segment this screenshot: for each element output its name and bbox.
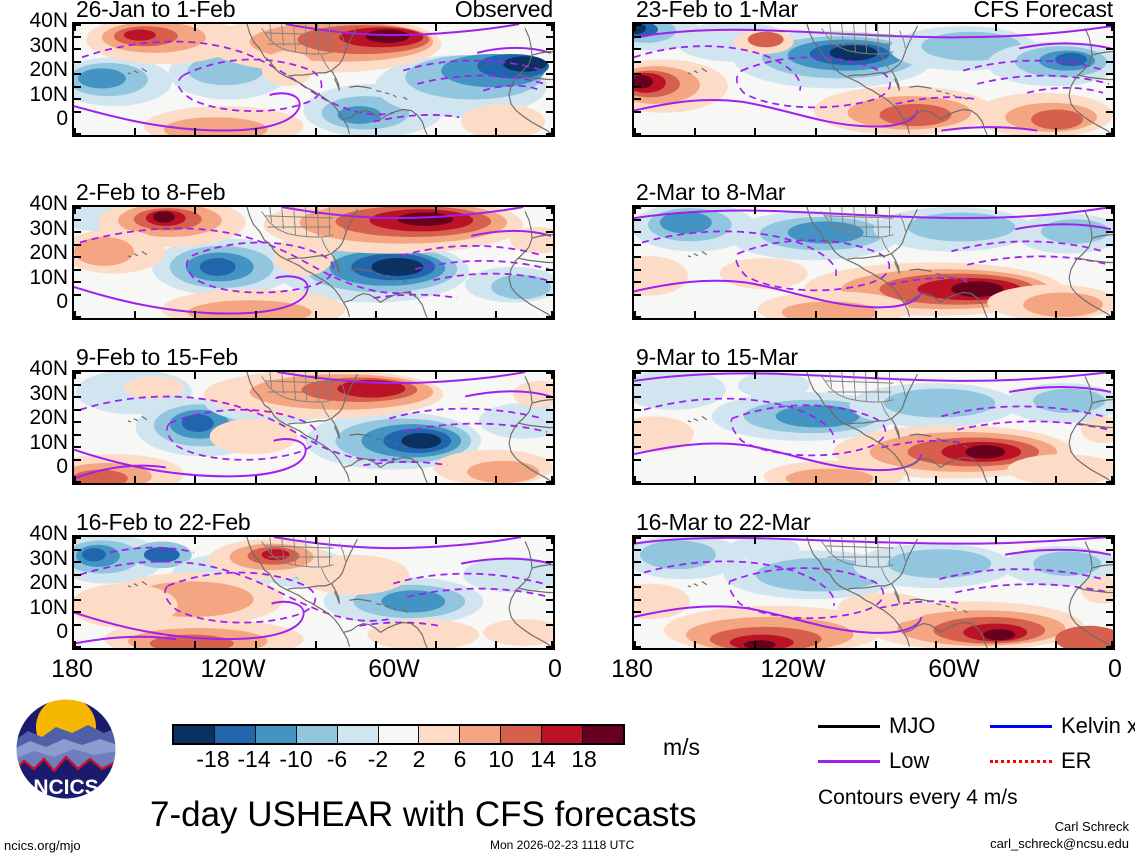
map-area-r1c2 <box>632 22 1115 137</box>
legend-label: Kelvin x2 <box>1061 713 1135 739</box>
y-tick-label: 40N <box>6 358 68 383</box>
map-panel-r2c2: 2-Mar to 8-Mar <box>632 205 1115 320</box>
x-tick-label: 180 <box>611 655 653 684</box>
colorbar-swatch <box>297 726 338 743</box>
map-area-r4c2 <box>632 535 1115 650</box>
map-panel-r4c1: 16-Feb to 22-Feb 40N 30N 20N 10N 0 <box>72 535 555 650</box>
map-panel-r1c2: 23-Feb to 1-Mar CFS Forecast <box>632 22 1115 137</box>
ushear-field-r1c2 <box>634 24 1113 135</box>
map-area-r3c1 <box>72 370 555 485</box>
colorbar-swatch <box>338 726 379 743</box>
colorbar-swatch <box>583 726 623 743</box>
colorbar-swatch <box>379 726 420 743</box>
map-panel-r3c1: 9-Feb to 15-Feb 40N 30N 20N 10N 0 <box>72 370 555 485</box>
y-tick-label: 0 <box>6 108 68 133</box>
colorbar-swatch <box>174 726 215 743</box>
colorbar-swatch <box>256 726 297 743</box>
y-axis-labels-r3: 40N 30N 20N 10N 0 <box>6 358 68 481</box>
colorbar-swatch <box>501 726 542 743</box>
x-axis-labels-right: 180 120W 60W 0 <box>632 655 1115 683</box>
map-area-r2c2 <box>632 205 1115 320</box>
ushear-field-r2c1 <box>74 207 553 318</box>
y-tick-label: 30N <box>6 548 68 573</box>
legend-entry-kelvin: Kelvin x2 <box>990 713 1135 739</box>
y-tick-label: 20N <box>6 407 68 432</box>
legend-entry-mjo: MJO <box>818 713 935 739</box>
map-area-r2c1 <box>72 205 555 320</box>
y-tick-label: 40N <box>6 10 68 35</box>
y-tick-label: 20N <box>6 242 68 267</box>
y-tick-label: 0 <box>6 621 68 646</box>
colorbar-tick-label: -2 <box>368 746 388 773</box>
y-tick-label: 10N <box>6 267 68 292</box>
figure-main-title: 7-day USHEAR with CFS forecasts <box>150 795 697 835</box>
colorbar-swatch <box>215 726 256 743</box>
map-panel-r1c1: 26-Jan to 1-Feb Observed 40N 30N 20N 10N… <box>72 22 555 137</box>
colorbar-tick-label: 2 <box>413 746 426 773</box>
y-tick-label: 30N <box>6 383 68 408</box>
colorbar-tick-label: -10 <box>279 746 312 773</box>
author-name: Carl Schreck <box>1055 819 1129 834</box>
colorbar-tick-label: 14 <box>530 746 556 773</box>
ushear-field-r2c2 <box>634 207 1113 318</box>
contour-interval-note: Contours every 4 m/s <box>818 786 1018 810</box>
colorbar <box>172 724 625 745</box>
colorbar-units-label: m/s <box>663 734 700 761</box>
legend-entry-er: ER <box>990 748 1092 774</box>
colorbar-tick-label: 18 <box>571 746 597 773</box>
ushear-field-r3c1 <box>74 372 553 483</box>
legend-entry-low: Low <box>818 748 929 774</box>
x-tick-label: 60W <box>928 655 979 684</box>
column-header-observed: Observed <box>455 0 553 23</box>
y-tick-label: 0 <box>6 456 68 481</box>
y-axis-labels-r2: 40N 30N 20N 10N 0 <box>6 193 68 316</box>
kelvin-line-icon <box>990 725 1052 728</box>
panel-title-r2c1: 2-Feb to 8-Feb <box>76 179 225 206</box>
map-panel-r4c2: 16-Mar to 22-Mar <box>632 535 1115 650</box>
figure-root: .cLow { fill:none; stroke:#a020f0; strok… <box>0 0 1135 859</box>
y-tick-label: 20N <box>6 59 68 84</box>
legend-label: Low <box>889 748 929 774</box>
y-tick-label: 40N <box>6 193 68 218</box>
x-axis-labels-left: 180 120W 60W 0 <box>72 655 555 683</box>
generation-timestamp: Mon 2026-02-23 1118 UTC <box>490 838 634 852</box>
map-panel-r2c1: 2-Feb to 8-Feb 40N 30N 20N 10N 0 <box>72 205 555 320</box>
ncics-logo[interactable]: NCICS <box>14 697 118 801</box>
x-tick-label: 120W <box>760 655 825 684</box>
x-tick-label: 60W <box>368 655 419 684</box>
panel-title-r4c1: 16-Feb to 22-Feb <box>76 509 251 536</box>
map-area-r4c1 <box>72 535 555 650</box>
site-url-link[interactable]: ncics.org/mjo <box>4 838 81 853</box>
ushear-field-r1c1 <box>74 24 553 135</box>
y-axis-labels-r4: 40N 30N 20N 10N 0 <box>6 523 68 646</box>
y-tick-label: 10N <box>6 84 68 109</box>
logo-text: NCICS <box>33 776 98 799</box>
panel-title-r2c2: 2-Mar to 8-Mar <box>636 179 785 206</box>
panel-title-r3c2: 9-Mar to 15-Mar <box>636 344 798 371</box>
legend-label: ER <box>1061 748 1092 774</box>
ushear-field-r3c2 <box>634 372 1113 483</box>
y-tick-label: 20N <box>6 572 68 597</box>
y-tick-label: 30N <box>6 35 68 60</box>
colorbar-swatch <box>542 726 583 743</box>
colorbar-tick-label: -14 <box>237 746 270 773</box>
colorbar-tick-labels: -18 -14 -10 -6 -2 2 6 10 14 18 <box>172 746 625 774</box>
y-tick-label: 30N <box>6 218 68 243</box>
column-header-cfs-forecast: CFS Forecast <box>974 0 1113 23</box>
x-tick-label: 0 <box>548 655 562 684</box>
map-area-r1c1 <box>72 22 555 137</box>
y-tick-label: 10N <box>6 432 68 457</box>
legend-label: MJO <box>889 713 935 739</box>
panel-title-r1c2: 23-Feb to 1-Mar <box>636 0 798 23</box>
ushear-field-r4c1 <box>74 537 553 648</box>
colorbar-tick-label: -6 <box>327 746 347 773</box>
x-tick-label: 180 <box>51 655 93 684</box>
mjo-line-icon <box>818 725 880 728</box>
colorbar-tick-label: -18 <box>196 746 229 773</box>
y-tick-label: 10N <box>6 597 68 622</box>
map-area-r3c2 <box>632 370 1115 485</box>
er-line-icon <box>990 760 1052 763</box>
colorbar-swatch <box>460 726 501 743</box>
y-axis-labels-r1: 40N 30N 20N 10N 0 <box>6 10 68 133</box>
author-email-link[interactable]: carl_schreck@ncsu.edu <box>990 836 1129 851</box>
panel-title-r3c1: 9-Feb to 15-Feb <box>76 344 238 371</box>
colorbar-swatch <box>419 726 460 743</box>
x-tick-label: 120W <box>200 655 265 684</box>
low-line-icon <box>818 760 880 763</box>
y-tick-label: 0 <box>6 291 68 316</box>
x-tick-label: 0 <box>1108 655 1122 684</box>
map-panel-r3c2: 9-Mar to 15-Mar <box>632 370 1115 485</box>
ushear-field-r4c2 <box>634 537 1113 648</box>
y-tick-label: 40N <box>6 523 68 548</box>
panel-title-r4c2: 16-Mar to 22-Mar <box>636 509 810 536</box>
panel-title-r1c1: 26-Jan to 1-Feb <box>76 0 235 23</box>
colorbar-tick-label: 10 <box>488 746 514 773</box>
colorbar-tick-label: 6 <box>454 746 467 773</box>
